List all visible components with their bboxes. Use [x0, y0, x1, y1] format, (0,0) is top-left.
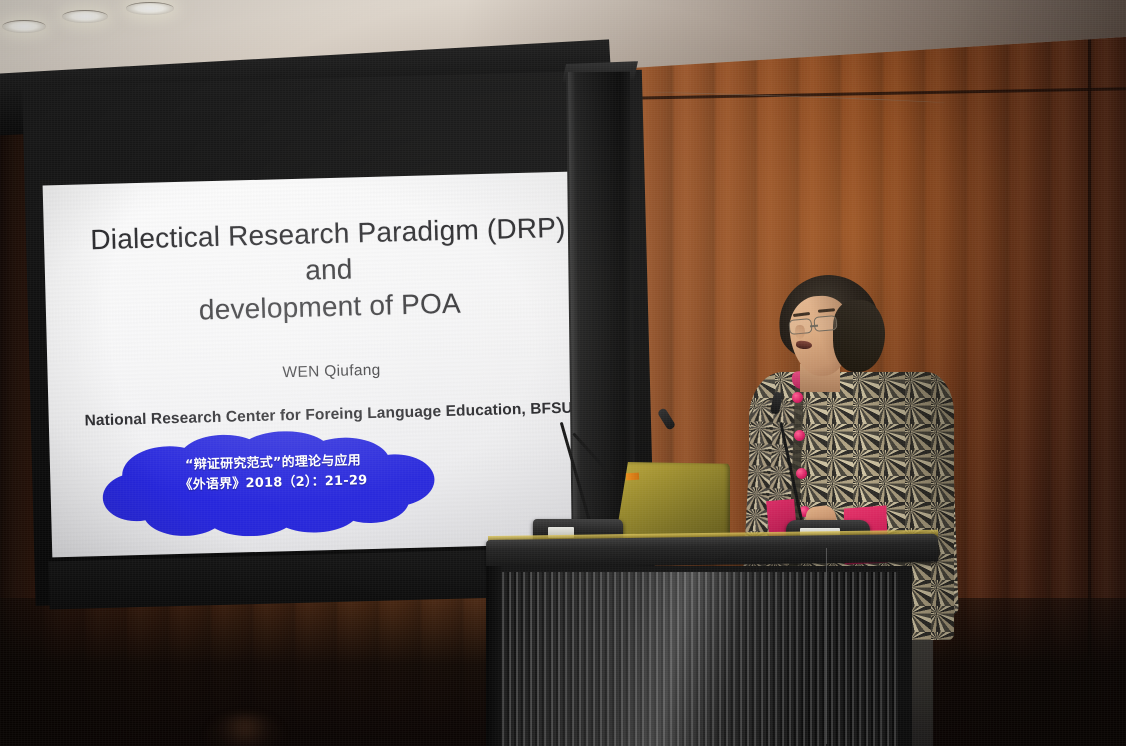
ceiling-light-1 [2, 20, 46, 33]
slide-title-line-1: Dialectical Research Paradigm (DRP) and [78, 210, 580, 296]
jacket-frog-button-2 [794, 430, 805, 441]
slide-title: Dialectical Research Paradigm (DRP) and … [78, 210, 581, 332]
jacket-frog-button-3 [796, 468, 807, 479]
wood-wall-seam-right [1088, 36, 1091, 656]
slide-citation-callout: “辩证研究范式”的理论与应用 《外语界》2018（2）：21-29 [97, 427, 450, 540]
projection-screen-surface: Dialectical Research Paradigm (DRP) and … [43, 171, 611, 557]
jacket-frog-button-1 [792, 392, 803, 403]
presentation-photo: Dialectical Research Paradigm (DRP) and … [0, 0, 1126, 746]
podium-left-edge [486, 566, 502, 746]
laptop-sticker [626, 473, 639, 481]
ceiling-light-2 [62, 10, 108, 23]
ceiling-light-3 [126, 2, 174, 15]
slide-affiliation: National Research Center for Foreing Lan… [55, 399, 603, 431]
eyeglasses-right-lens [813, 315, 837, 332]
slide-author: WEN Qiufang [81, 356, 581, 387]
